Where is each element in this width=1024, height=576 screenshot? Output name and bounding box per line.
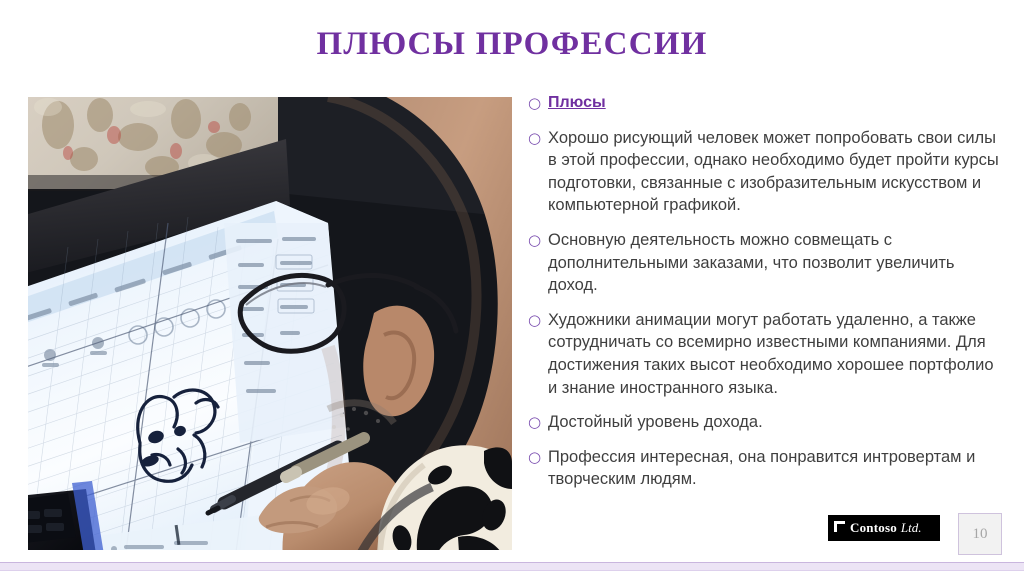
contoso-logo: Contoso Ltd. (828, 515, 940, 541)
photo-illustration (28, 97, 512, 550)
page-number: 10 (958, 513, 1002, 555)
list-item: ○ Основную деятельность можно совмещать … (528, 229, 1006, 297)
bottom-accent-bar (0, 562, 1024, 571)
list-item: ○ Хорошо рисующий человек может попробов… (528, 127, 1006, 217)
corner-bracket-icon (834, 521, 845, 532)
logo-name-label: Contoso (850, 520, 897, 536)
slide-canvas: ПЛЮСЫ ПРОФЕССИИ (0, 0, 1024, 576)
bullet-circle-icon: ○ (528, 127, 548, 149)
bullet-circle-icon: ○ (528, 92, 548, 114)
bullet-circle-icon: ○ (528, 411, 548, 433)
bullet-circle-icon: ○ (528, 446, 548, 468)
bullet-list: ○ Плюсы ○ Хорошо рисующий человек может … (528, 92, 1006, 503)
list-item-label: Художники анимации могут работать удален… (548, 309, 1006, 399)
bullet-circle-icon: ○ (528, 309, 548, 331)
bullet-circle-icon: ○ (528, 229, 548, 251)
list-item: ○ Профессия интересная, она понравится и… (528, 446, 1006, 491)
photo-artwork (28, 97, 512, 550)
list-item: ○ Достойный уровень дохода. (528, 411, 1006, 434)
list-item-label: Достойный уровень дохода. (548, 411, 1006, 434)
list-item-label: Профессия интересная, она понравится инт… (548, 446, 1006, 491)
list-item: ○ Художники анимации могут работать удал… (528, 309, 1006, 399)
list-item-label: Плюсы (548, 92, 1006, 115)
logo-suffix-label: Ltd. (901, 520, 922, 536)
list-item: ○ Плюсы (528, 92, 1006, 115)
list-item-label: Основную деятельность можно совмещать с … (548, 229, 1006, 297)
bottom-filler (0, 571, 1024, 576)
page-title: ПЛЮСЫ ПРОФЕССИИ (0, 26, 1024, 63)
list-item-label: Хорошо рисующий человек может попробоват… (548, 127, 1006, 217)
